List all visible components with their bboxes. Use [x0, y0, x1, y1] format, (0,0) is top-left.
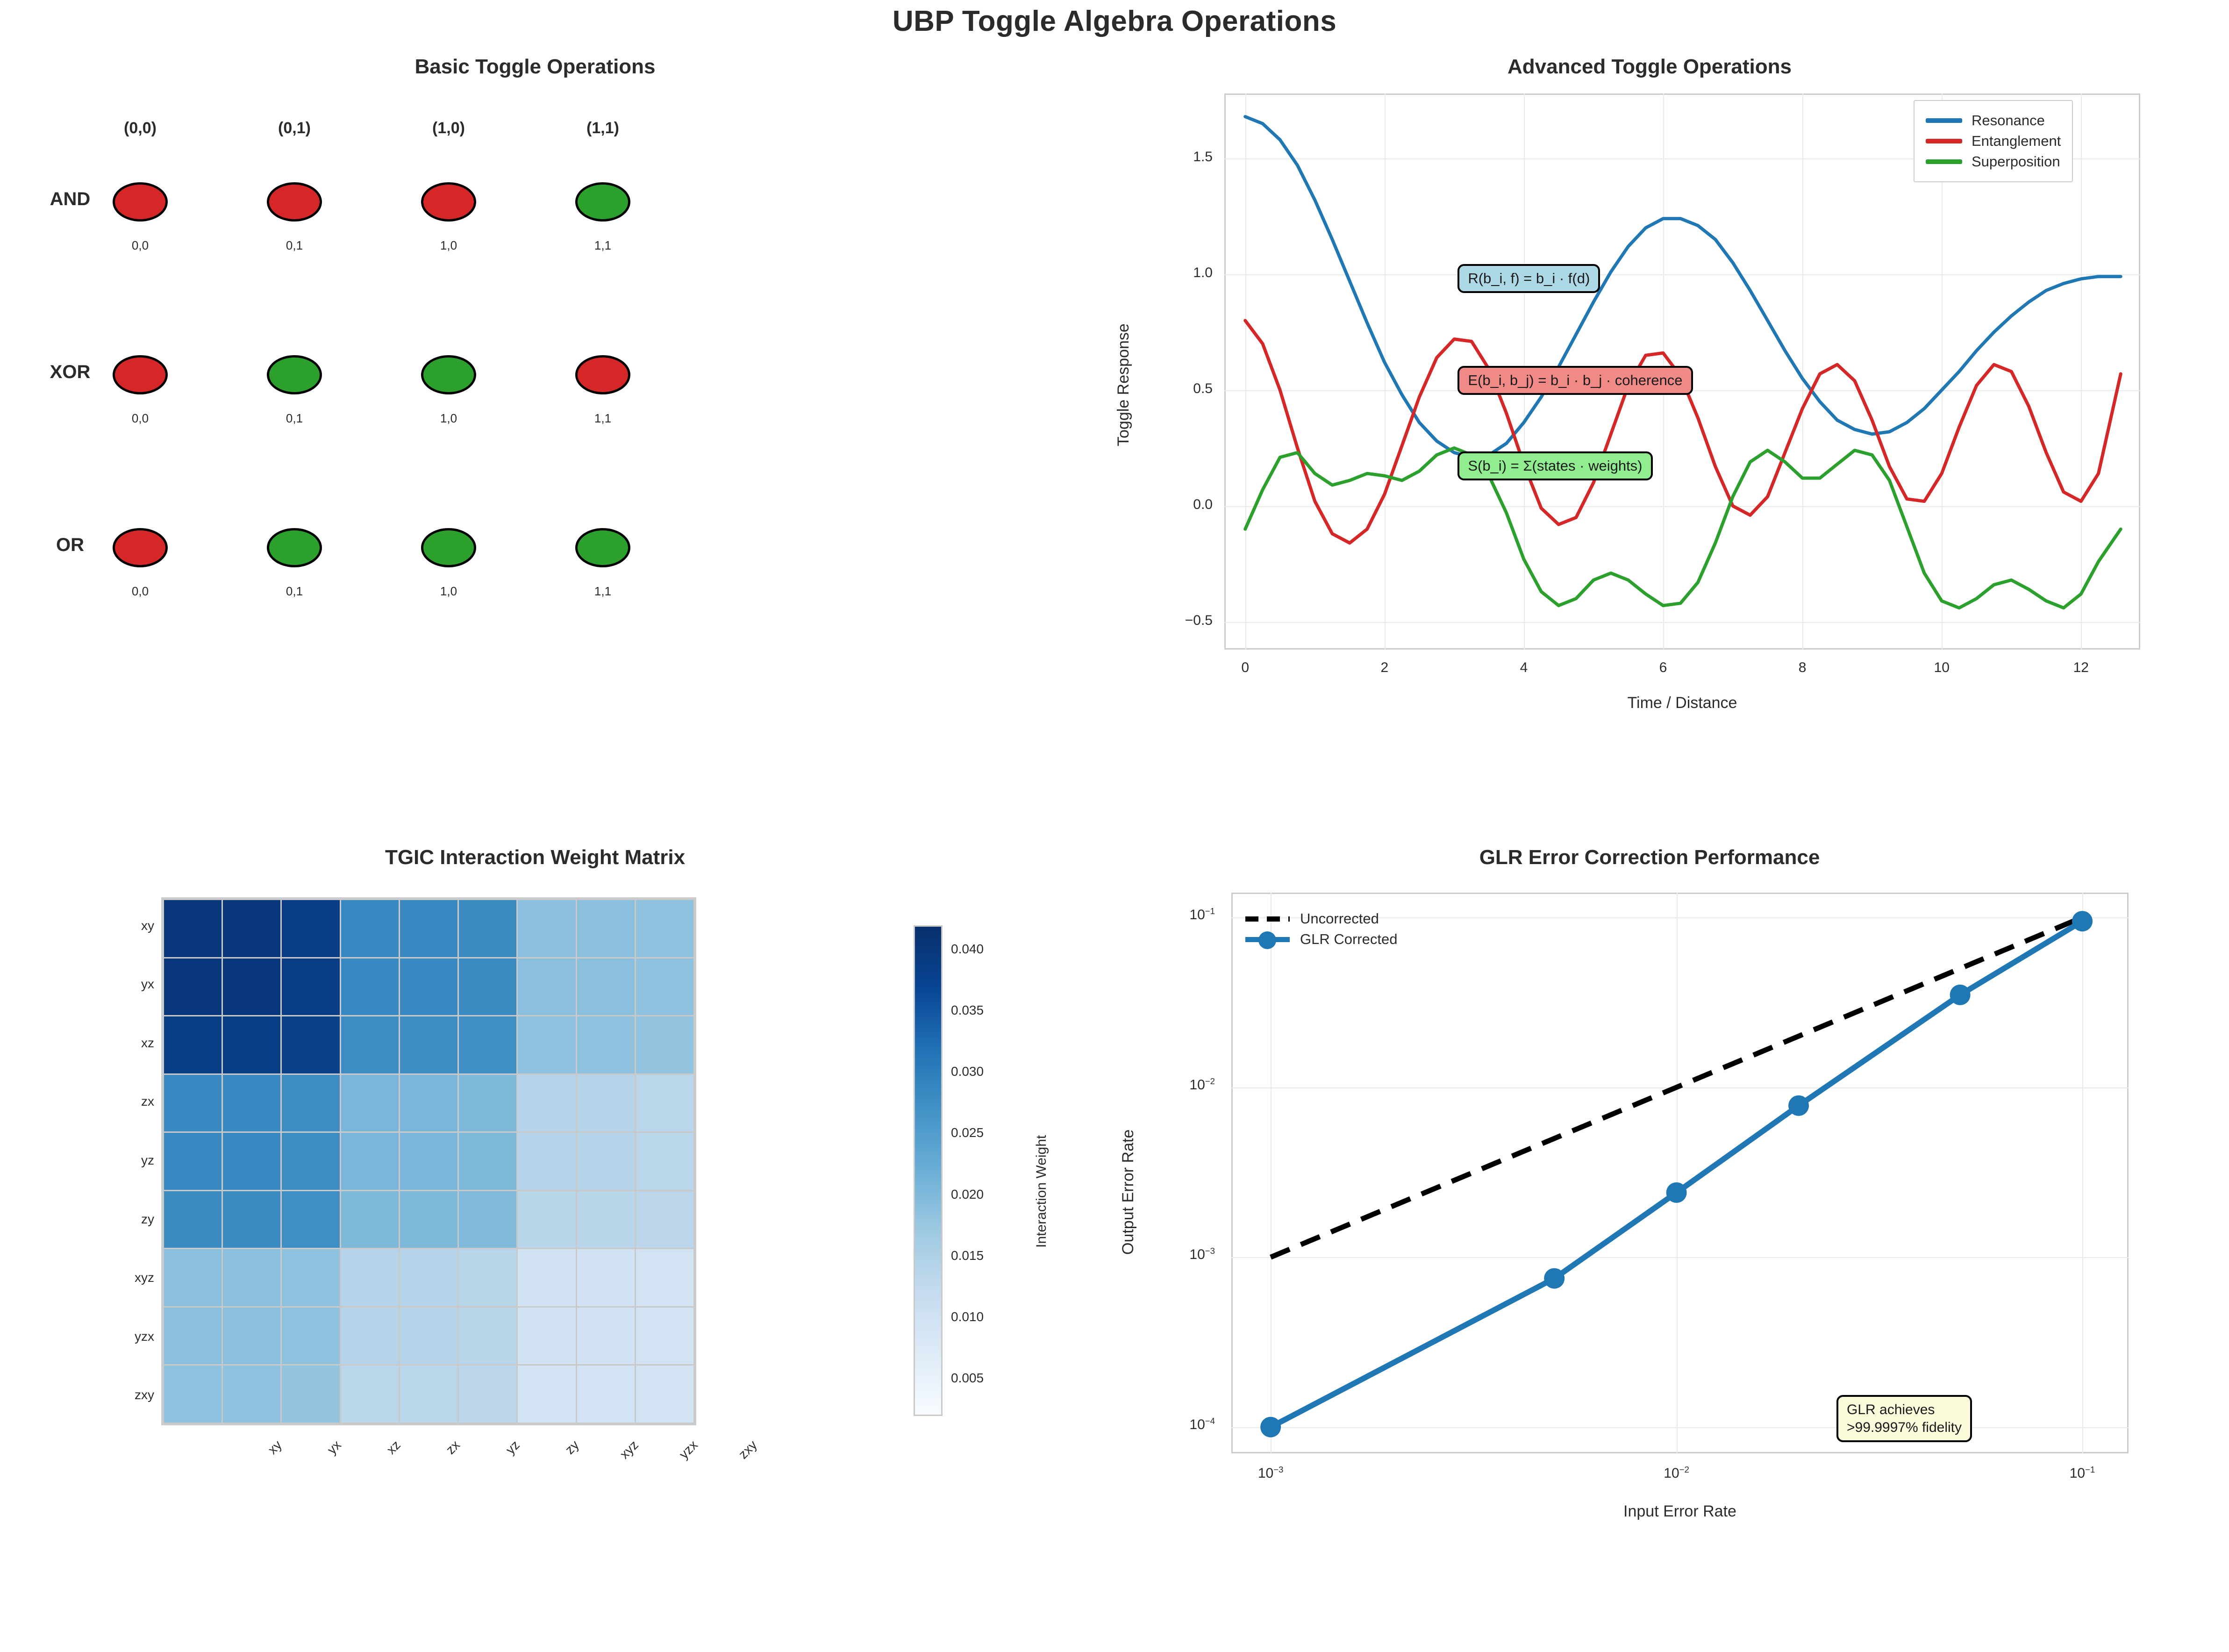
heatmap-cell[interactable]: [223, 958, 280, 1016]
heatmap-cell[interactable]: [459, 1366, 516, 1423]
toggle-indicator[interactable]: [421, 182, 476, 222]
heatmap-cell[interactable]: [636, 900, 693, 957]
toggle-indicator[interactable]: [575, 182, 630, 222]
annotation-box-1: R(b_i, f) = b_i · f(d): [1457, 264, 1600, 293]
heatmap-cell[interactable]: [636, 1308, 693, 1365]
heatmap-cell[interactable]: [282, 1366, 339, 1423]
heatmap-cell[interactable]: [282, 900, 339, 957]
column-header-(1,1): (1,1): [542, 119, 664, 137]
heatmap-cell[interactable]: [341, 1016, 399, 1073]
glr-data-point[interactable]: [1950, 985, 1971, 1005]
legend-label: Resonance: [1972, 112, 2045, 129]
basic-toggle-title: Basic Toggle Operations: [0, 55, 1070, 79]
glr-data-point[interactable]: [1666, 1182, 1687, 1203]
toggle-cell-and-11[interactable]: 1,1: [542, 182, 664, 253]
series-superposition: [1245, 448, 2121, 608]
column-header-(0,0): (0,0): [79, 119, 201, 137]
heatmap-cell[interactable]: [341, 1075, 399, 1132]
heatmap-cell[interactable]: [164, 1308, 221, 1365]
glr-series-uncorrected: [1271, 917, 2082, 1257]
heatmap-cell[interactable]: [282, 1133, 339, 1190]
heatmap-cell[interactable]: [223, 1075, 280, 1132]
colorbar-tick-0.040: 0.040: [951, 942, 984, 957]
heatmap-cell[interactable]: [400, 1308, 457, 1365]
heatmap-cell[interactable]: [518, 1133, 575, 1190]
heatmap-cell[interactable]: [341, 1133, 399, 1190]
toggle-cell-sublabel: 0,0: [79, 238, 201, 253]
toggle-cell-sublabel: 1,0: [388, 238, 509, 253]
heatmap-cell[interactable]: [636, 1249, 693, 1306]
advanced-legend: ResonanceEntanglementSuperposition: [1914, 100, 2073, 182]
heatmap-ylabel-yzx: yzx: [61, 1329, 154, 1344]
heatmap-cell[interactable]: [518, 958, 575, 1016]
heatmap-cell[interactable]: [577, 1133, 635, 1190]
toggle-cell-or-00[interactable]: 0,0: [79, 528, 201, 599]
heatmap-xlabel-yzx: yzx: [637, 1437, 701, 1501]
heatmap-cell[interactable]: [636, 958, 693, 1016]
panel-advanced-toggle: Advanced Toggle Operations −0.50.00.51.0…: [1070, 42, 2229, 729]
heatmap-cell[interactable]: [636, 1075, 693, 1132]
tgic-heatmap-grid[interactable]: [161, 897, 696, 1425]
heatmap-cell[interactable]: [400, 1016, 457, 1073]
heatmap-cell[interactable]: [341, 1308, 399, 1365]
toggle-indicator[interactable]: [575, 355, 630, 394]
heatmap-cell[interactable]: [400, 900, 457, 957]
toggle-cell-xor-10[interactable]: 1,0: [388, 355, 509, 426]
heatmap-cell[interactable]: [518, 900, 575, 957]
legend-swatch: [1926, 118, 1962, 123]
legend-entry-entanglement: Entanglement: [1926, 133, 2061, 150]
toggle-indicator[interactable]: [267, 355, 322, 394]
heatmap-cell[interactable]: [341, 900, 399, 957]
glr-legend-entry-uncorrected: Uncorrected: [1245, 910, 1397, 927]
glr-data-point[interactable]: [2072, 911, 2093, 931]
heatmap-cell[interactable]: [459, 1133, 516, 1190]
series-entanglement: [1245, 321, 2121, 543]
legend-swatch: [1926, 139, 1962, 143]
toggle-indicator[interactable]: [421, 528, 476, 567]
toggle-cell-sublabel: 0,0: [79, 411, 201, 426]
colorbar-tick-0.025: 0.025: [951, 1125, 984, 1140]
heatmap-ylabel-yz: yz: [61, 1153, 154, 1168]
tgic-title: TGIC Interaction Weight Matrix: [0, 846, 1070, 869]
toggle-indicator[interactable]: [113, 182, 168, 222]
heatmap-xlabel-xyz: xyz: [578, 1437, 642, 1501]
heatmap-xlabel-zy: zy: [519, 1437, 582, 1501]
heatmap-cell[interactable]: [223, 1308, 280, 1365]
heatmap-cell[interactable]: [636, 1366, 693, 1423]
annotation-box-2: E(b_i, b_j) = b_i · b_j · coherence: [1457, 366, 1693, 395]
toggle-cell-sublabel: 0,0: [79, 584, 201, 599]
column-header-(1,0): (1,0): [388, 119, 509, 137]
legend-label: Superposition: [1972, 153, 2060, 170]
legend-swatch: [1245, 932, 1290, 946]
figure-root: UBP Toggle Algebra Operations Basic Togg…: [0, 0, 2229, 1652]
heatmap-cell[interactable]: [636, 1191, 693, 1248]
column-header-(0,1): (0,1): [234, 119, 355, 137]
legend-entry-superposition: Superposition: [1926, 153, 2061, 170]
heatmap-cell[interactable]: [164, 1366, 221, 1423]
heatmap-ylabel-zxy: zxy: [61, 1387, 154, 1402]
colorbar-tick-0.020: 0.020: [951, 1187, 984, 1202]
heatmap-xlabel-xy: xy: [221, 1437, 285, 1501]
heatmap-cell[interactable]: [518, 1366, 575, 1423]
toggle-cell-sublabel: 0,1: [234, 584, 355, 599]
toggle-indicator[interactable]: [575, 528, 630, 567]
heatmap-cell[interactable]: [577, 1308, 635, 1365]
glr-data-point[interactable]: [1788, 1095, 1809, 1116]
toggle-cell-or-11[interactable]: 1,1: [542, 528, 664, 599]
heatmap-ylabel-zy: zy: [61, 1212, 154, 1227]
heatmap-xlabel-yz: yz: [459, 1437, 522, 1501]
legend-swatch: [1926, 159, 1962, 164]
annotation-box-3: S(b_i) = Σ(states · weights): [1457, 451, 1652, 480]
heatmap-cell[interactable]: [459, 1191, 516, 1248]
heatmap-cell[interactable]: [164, 1191, 221, 1248]
heatmap-cell[interactable]: [164, 900, 221, 957]
heatmap-xlabel-yx: yx: [281, 1437, 344, 1501]
glr-legend-label: GLR Corrected: [1300, 931, 1397, 948]
toggle-cell-sublabel: 0,1: [234, 238, 355, 253]
toggle-indicator[interactable]: [267, 182, 322, 222]
heatmap-cell[interactable]: [341, 1366, 399, 1423]
toggle-indicator[interactable]: [113, 528, 168, 567]
heatmap-cell[interactable]: [164, 1075, 221, 1132]
toggle-cell-sublabel: 1,0: [388, 411, 509, 426]
heatmap-cell[interactable]: [518, 1075, 575, 1132]
toggle-indicator[interactable]: [421, 355, 476, 394]
heatmap-cell[interactable]: [400, 1249, 457, 1306]
glr-legend-entry-glr-corrected: GLR Corrected: [1245, 931, 1397, 948]
heatmap-cell[interactable]: [577, 1016, 635, 1073]
glr-data-point[interactable]: [1260, 1417, 1281, 1437]
figure-suptitle: UBP Toggle Algebra Operations: [0, 5, 2229, 38]
toggle-cell-xor-11[interactable]: 1,1: [542, 355, 664, 426]
heatmap-ylabel-yx: yx: [61, 977, 154, 992]
colorbar-tick-0.005: 0.005: [951, 1371, 984, 1386]
toggle-cell-and-01[interactable]: 0,1: [234, 182, 355, 253]
colorbar: [914, 925, 943, 1416]
toggle-cell-sublabel: 1,0: [388, 584, 509, 599]
heatmap-ylabel-xz: xz: [61, 1036, 154, 1051]
toggle-cell-xor-01[interactable]: 0,1: [234, 355, 355, 426]
legend-entry-resonance: Resonance: [1926, 112, 2061, 129]
heatmap-cell[interactable]: [341, 1191, 399, 1248]
colorbar-tick-0.010: 0.010: [951, 1309, 984, 1324]
glr-data-point[interactable]: [1544, 1268, 1565, 1289]
heatmap-cell[interactable]: [164, 1133, 221, 1190]
heatmap-cell[interactable]: [577, 958, 635, 1016]
toggle-cell-sublabel: 1,1: [542, 584, 664, 599]
colorbar-label: Interaction Weight: [1034, 1135, 1050, 1248]
heatmap-cell[interactable]: [282, 1191, 339, 1248]
heatmap-cell[interactable]: [400, 1133, 457, 1190]
heatmap-cell[interactable]: [459, 1308, 516, 1365]
heatmap-cell[interactable]: [459, 958, 516, 1016]
toggle-cell-xor-00[interactable]: 0,0: [79, 355, 201, 426]
toggle-cell-and-10[interactable]: 1,0: [388, 182, 509, 253]
heatmap-cell[interactable]: [223, 900, 280, 957]
heatmap-cell[interactable]: [518, 1191, 575, 1248]
heatmap-cell[interactable]: [459, 900, 516, 957]
heatmap-cell[interactable]: [518, 1016, 575, 1073]
heatmap-cell[interactable]: [164, 1016, 221, 1073]
toggle-cell-or-10[interactable]: 1,0: [388, 528, 509, 599]
heatmap-cell[interactable]: [223, 1249, 280, 1306]
heatmap-cell[interactable]: [518, 1308, 575, 1365]
glr-legend-label: Uncorrected: [1300, 910, 1379, 927]
heatmap-cell[interactable]: [282, 1249, 339, 1306]
glr-annotation: GLR achieves >99.9997% fidelity: [1836, 1395, 1972, 1442]
heatmap-ylabel-xy: xy: [61, 918, 154, 933]
panel-glr-performance: GLR Error Correction Performance 10−410−…: [1070, 837, 2229, 1652]
heatmap-cell[interactable]: [577, 1191, 635, 1248]
heatmap-cell[interactable]: [577, 1075, 635, 1132]
panel-basic-toggle: Basic Toggle Operations (0,0)(0,1)(1,0)(…: [0, 42, 1070, 729]
heatmap-ylabel-zx: zx: [61, 1094, 154, 1109]
legend-label: Entanglement: [1972, 133, 2061, 150]
heatmap-cell[interactable]: [341, 958, 399, 1016]
toggle-indicator[interactable]: [113, 355, 168, 394]
toggle-cell-sublabel: 1,1: [542, 238, 664, 253]
heatmap-cell[interactable]: [223, 1016, 280, 1073]
heatmap-cell[interactable]: [164, 1249, 221, 1306]
heatmap-xlabel-zxy: zxy: [697, 1437, 760, 1501]
heatmap-cell[interactable]: [459, 1016, 516, 1073]
colorbar-tick-0.035: 0.035: [951, 1003, 984, 1018]
heatmap-cell[interactable]: [577, 900, 635, 957]
toggle-indicator[interactable]: [267, 528, 322, 567]
toggle-cell-and-00[interactable]: 0,0: [79, 182, 201, 253]
glr-legend: UncorrectedGLR Corrected: [1245, 907, 1397, 951]
heatmap-cell[interactable]: [636, 1133, 693, 1190]
heatmap-cell[interactable]: [400, 1191, 457, 1248]
heatmap-cell[interactable]: [282, 1308, 339, 1365]
heatmap-cell[interactable]: [223, 1191, 280, 1248]
toggle-cell-sublabel: 1,1: [542, 411, 664, 426]
heatmap-xlabel-zx: zx: [400, 1437, 463, 1501]
heatmap-cell[interactable]: [223, 1133, 280, 1190]
heatmap-cell[interactable]: [577, 1249, 635, 1306]
toggle-cell-sublabel: 0,1: [234, 411, 355, 426]
heatmap-cell[interactable]: [400, 1075, 457, 1132]
colorbar-tick-0.030: 0.030: [951, 1064, 984, 1079]
heatmap-cell[interactable]: [341, 1249, 399, 1306]
heatmap-cell[interactable]: [636, 1016, 693, 1073]
heatmap-cell[interactable]: [518, 1249, 575, 1306]
heatmap-cell[interactable]: [400, 958, 457, 1016]
heatmap-cell[interactable]: [164, 958, 221, 1016]
heatmap-cell[interactable]: [459, 1075, 516, 1132]
heatmap-cell[interactable]: [400, 1366, 457, 1423]
heatmap-cell[interactable]: [282, 958, 339, 1016]
heatmap-cell[interactable]: [459, 1249, 516, 1306]
heatmap-cell[interactable]: [282, 1075, 339, 1132]
glr-curves: [1070, 837, 2229, 1652]
heatmap-cell[interactable]: [577, 1366, 635, 1423]
toggle-cell-or-01[interactable]: 0,1: [234, 528, 355, 599]
heatmap-ylabel-xyz: xyz: [61, 1270, 154, 1285]
heatmap-cell[interactable]: [223, 1366, 280, 1423]
colorbar-tick-0.015: 0.015: [951, 1248, 984, 1263]
panel-tgic-heatmap: TGIC Interaction Weight Matrix xyxyyxyxx…: [0, 837, 1070, 1652]
heatmap-cell[interactable]: [282, 1016, 339, 1073]
heatmap-xlabel-xz: xz: [340, 1437, 404, 1501]
legend-swatch: [1245, 912, 1290, 926]
